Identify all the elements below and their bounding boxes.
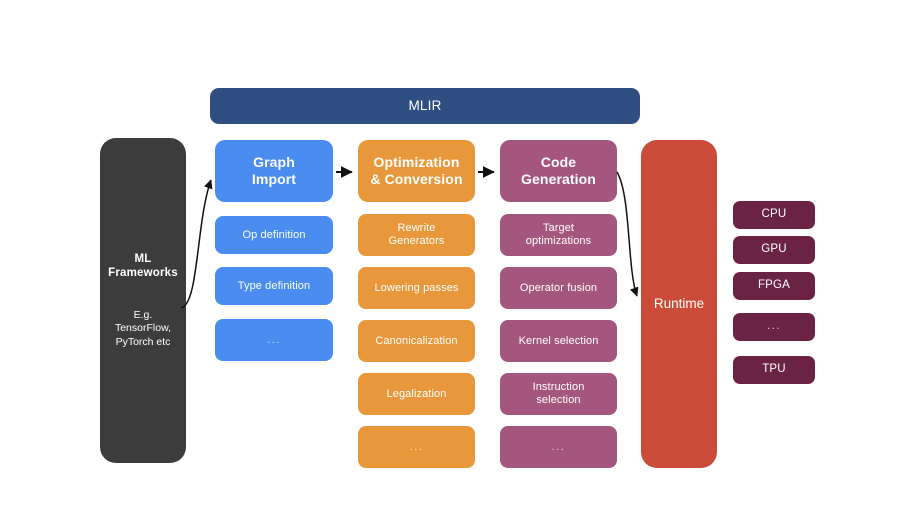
hardware-target-fpga[interactable]: FPGA bbox=[733, 272, 815, 300]
item-legalization[interactable]: Legalization bbox=[358, 373, 475, 415]
stage-header-optimization-conversion[interactable]: Optimization & Conversion bbox=[358, 140, 475, 202]
stage-header-code-generation-label: Code Generation bbox=[521, 154, 596, 187]
ml-frameworks-column: ML Frameworks E.g. TensorFlow, PyTorch e… bbox=[100, 138, 186, 463]
hardware-target-tpu[interactable]: TPU bbox=[733, 356, 815, 384]
item-instruction-selection-label: Instruction selection bbox=[533, 381, 585, 407]
hardware-target-tpu-label: TPU bbox=[762, 363, 786, 377]
item-operator-fusion-label: Operator fusion bbox=[520, 282, 597, 295]
stage-header-graph-import-label: Graph Import bbox=[252, 154, 296, 187]
stage-header-optimization-conversion-label: Optimization & Conversion bbox=[370, 154, 462, 187]
item-code-generation-more-label: ... bbox=[552, 441, 566, 454]
item-target-optimizations-label: Target optimizations bbox=[526, 222, 592, 248]
hardware-target-fpga-label: FPGA bbox=[758, 279, 790, 293]
item-target-optimizations[interactable]: Target optimizations bbox=[500, 214, 617, 256]
item-type-definition-label: Type definition bbox=[238, 280, 310, 293]
item-rewrite-generators-label: Rewrite Generators bbox=[388, 222, 444, 248]
item-optimization-more[interactable]: ... bbox=[358, 426, 475, 468]
stage-header-graph-import[interactable]: Graph Import bbox=[215, 140, 333, 202]
item-instruction-selection[interactable]: Instruction selection bbox=[500, 373, 617, 415]
item-operator-fusion[interactable]: Operator fusion bbox=[500, 267, 617, 309]
hardware-target-gpu-label: GPU bbox=[761, 243, 787, 257]
item-optimization-more-label: ... bbox=[410, 441, 424, 454]
item-op-definition-label: Op definition bbox=[242, 229, 305, 242]
ml-frameworks-text: ML Frameworks E.g. TensorFlow, PyTorch e… bbox=[108, 235, 178, 365]
item-graph-import-more-label: ... bbox=[267, 334, 281, 347]
ml-frameworks-title: ML Frameworks bbox=[108, 252, 178, 281]
hardware-target-more[interactable]: ... bbox=[733, 313, 815, 341]
item-code-generation-more[interactable]: ... bbox=[500, 426, 617, 468]
item-type-definition[interactable]: Type definition bbox=[215, 267, 333, 305]
item-kernel-selection[interactable]: Kernel selection bbox=[500, 320, 617, 362]
mlir-bar: MLIR bbox=[210, 88, 640, 124]
arrow-code-generation-to-runtime bbox=[617, 172, 637, 296]
item-op-definition[interactable]: Op definition bbox=[215, 216, 333, 254]
item-rewrite-generators[interactable]: Rewrite Generators bbox=[358, 214, 475, 256]
stage-header-code-generation[interactable]: Code Generation bbox=[500, 140, 617, 202]
item-lowering-passes[interactable]: Lowering passes bbox=[358, 267, 475, 309]
hardware-target-cpu-label: CPU bbox=[762, 208, 787, 222]
item-canonicalization-label: Canonicalization bbox=[375, 335, 457, 348]
hardware-target-more-label: ... bbox=[767, 320, 781, 334]
item-legalization-label: Legalization bbox=[387, 388, 447, 401]
runtime-column[interactable]: Runtime bbox=[641, 140, 717, 468]
mlir-bar-label: MLIR bbox=[408, 98, 441, 114]
diagram-canvas: MLIR ML Frameworks E.g. TensorFlow, PyTo… bbox=[0, 0, 900, 505]
item-lowering-passes-label: Lowering passes bbox=[374, 282, 458, 295]
item-canonicalization[interactable]: Canonicalization bbox=[358, 320, 475, 362]
ml-frameworks-subtitle: E.g. TensorFlow, PyTorch etc bbox=[108, 309, 178, 350]
item-graph-import-more[interactable]: ... bbox=[215, 319, 333, 361]
runtime-label: Runtime bbox=[654, 296, 704, 312]
item-kernel-selection-label: Kernel selection bbox=[519, 335, 599, 348]
hardware-target-cpu[interactable]: CPU bbox=[733, 201, 815, 229]
hardware-target-gpu[interactable]: GPU bbox=[733, 236, 815, 264]
